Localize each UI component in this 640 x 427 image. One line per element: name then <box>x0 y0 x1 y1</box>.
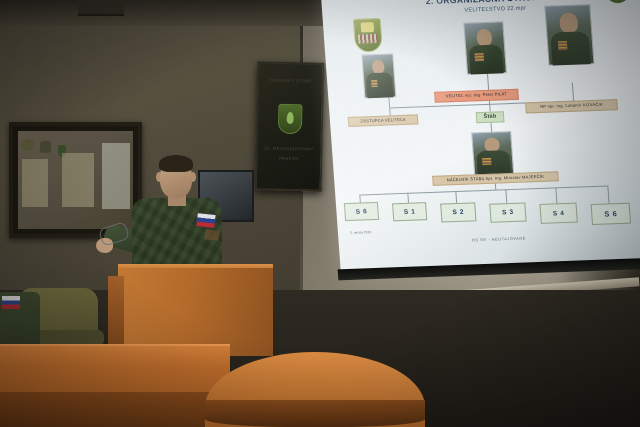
section-box-s6b: S 6 <box>591 203 631 225</box>
document-thumb <box>102 143 130 209</box>
officer-photo-right <box>544 4 594 66</box>
podium <box>118 268 273 356</box>
document-thumb <box>62 153 94 207</box>
connector <box>359 185 607 195</box>
attendee-flag-patch-icon <box>2 296 20 309</box>
officer-photo-left <box>361 53 396 98</box>
presenter-hair <box>159 155 193 172</box>
plaque-crest-icon <box>277 104 302 134</box>
presentation-slide: 2. ORGANIZAČNÁ ŠTRUKTÚRA VELITEĽSTVO 22.… <box>320 0 640 273</box>
plaque-line-1: 22. MECHANIZOVANÝ <box>257 145 320 151</box>
section-box-s1: S 1 <box>392 202 427 221</box>
slide-footer-left: 2. verzia 2016 <box>350 230 372 235</box>
commander-label: VELITEĽ mjr. Ing. Peter PILÁT <box>434 89 519 103</box>
section-box-s2: S 2 <box>440 202 476 222</box>
insignia-icon <box>40 141 51 153</box>
section-box-s3: S 3 <box>489 202 526 222</box>
commemorative-plaque: VOJENSKÝ ÚTVAR 22. MECHANIZOVANÝ PRÁPOR <box>255 61 325 191</box>
plaque-line-2: PRÁPOR <box>257 155 320 161</box>
framed-display-case <box>9 122 142 238</box>
briefing-room-photo: VOJENSKÝ ÚTVAR 22. MECHANIZOVANÝ PRÁPOR … <box>0 0 640 427</box>
desk-left-front <box>0 392 230 427</box>
officer-photo-center <box>463 21 507 74</box>
unit-patch-icon <box>205 229 220 240</box>
badge-icon <box>22 139 34 151</box>
staff-label: Štáb <box>476 111 505 123</box>
screen-surface: 2. ORGANIZAČNÁ ŠTRUKTÚRA VELITEĽSTVO 22.… <box>320 0 640 273</box>
unit-crest-icon <box>353 18 383 53</box>
document-thumb <box>22 159 48 207</box>
section-box-s6a: S 6 <box>344 202 379 221</box>
projection-screen: 2. ORGANIZAČNÁ ŠTRUKTÚRA VELITEĽSTVO 22.… <box>320 0 640 291</box>
plaque-title: VOJENSKÝ ÚTVAR <box>259 77 322 83</box>
ceiling-vent <box>78 0 124 16</box>
section-box-s4: S 4 <box>539 203 577 224</box>
round-table-edge <box>205 400 425 427</box>
connector <box>487 72 489 90</box>
slide-footer-center: OS SR - NEUTAJOVANÉ <box>339 232 640 248</box>
slovak-flag-patch-icon <box>195 212 216 229</box>
framed-display-content <box>18 131 133 229</box>
chief-of-staff-photo <box>471 131 514 176</box>
deputy-commander-label: ZÁSTUPCA VELITEĽA <box>348 114 419 127</box>
warrant-officer-label: NP npr. Ing. Ľubomír KOVÁČIK <box>525 99 618 113</box>
